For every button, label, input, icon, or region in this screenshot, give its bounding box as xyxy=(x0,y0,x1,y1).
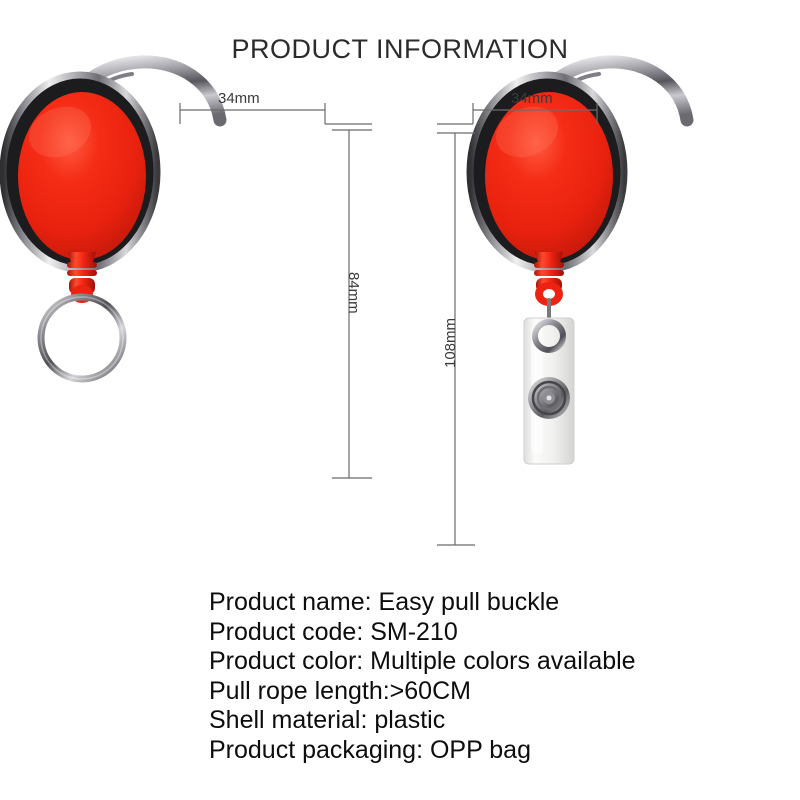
dimension-width-label-left: 34mm xyxy=(218,90,260,107)
product-figures-area: 34mm 84mm xyxy=(0,0,800,580)
spec-shell-material: Shell material: plastic xyxy=(209,706,769,736)
product-figure-key-ring-version: 34mm 84mm xyxy=(0,0,400,580)
dimension-height-label-left: 84mm xyxy=(345,272,362,314)
spec-product-code: Product code: SM-210 xyxy=(209,618,769,648)
spec-product-color: Product color: Multiple colors available xyxy=(209,647,769,677)
dimension-height-label-right: 108mm xyxy=(442,318,459,368)
product-spec-list: Product name: Easy pull buckle Product c… xyxy=(209,588,769,765)
spec-product-packaging: Product packaging: OPP bag xyxy=(209,736,769,766)
dimension-lines-right xyxy=(400,0,800,580)
product-figure-vinyl-strap-version: 34mm 108mm xyxy=(400,0,800,580)
dimension-lines-left xyxy=(0,0,400,580)
dimension-width-label-right: 34mm xyxy=(511,90,553,107)
spec-product-name: Product name: Easy pull buckle xyxy=(209,588,769,618)
spec-pull-rope-length: Pull rope length:>60CM xyxy=(209,677,769,707)
